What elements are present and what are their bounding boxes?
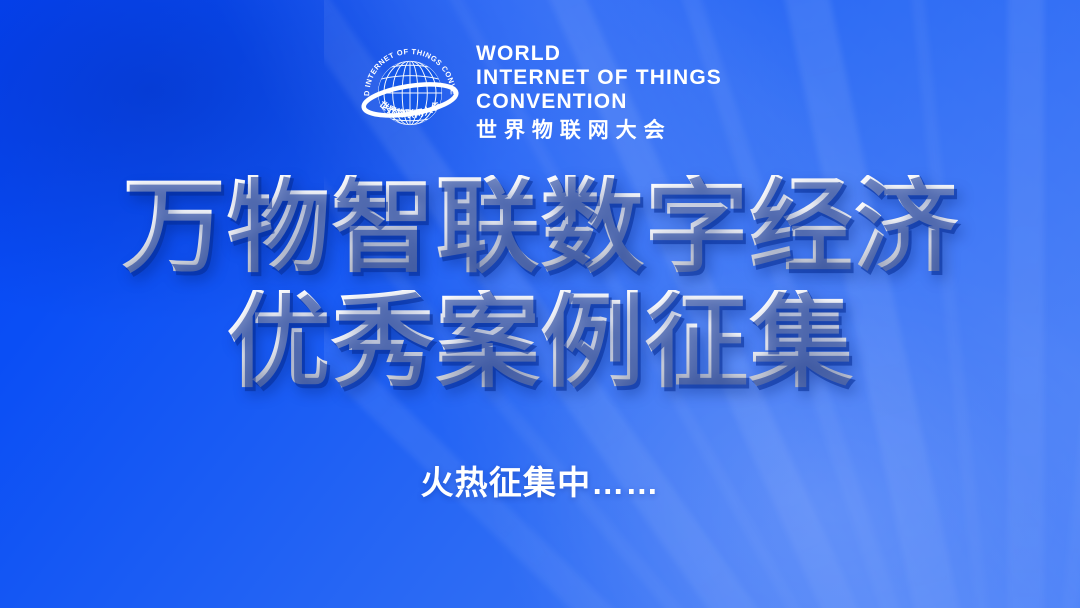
headline-line-2-text: 优秀案例征集 — [226, 290, 853, 394]
headline-line-2: 优秀案例征集 — [122, 290, 958, 394]
logo-wordmark: WORLD INTERNET OF THINGS CONVENTION 世界物联… — [476, 42, 722, 143]
poster-content: WORLD INTERNET OF THINGS CONVENTION 世界物联… — [0, 0, 1080, 608]
globe-emblem-icon: WORLD INTERNET OF THINGS CONVENTION 世界物联… — [358, 41, 462, 145]
logo-line-internet: INTERNET OF THINGS — [476, 66, 722, 90]
logo-lockup: WORLD INTERNET OF THINGS CONVENTION 世界物联… — [358, 41, 722, 145]
poster-canvas: WORLD INTERNET OF THINGS CONVENTION 世界物联… — [0, 0, 1080, 608]
logo-line-chinese: 世界物联网大会 — [476, 118, 722, 144]
subtitle-text: 火热征集中…… — [420, 456, 659, 504]
headline-block: 万物智联数字经济 优秀案例征集 — [122, 175, 958, 394]
headline-line-1: 万物智联数字经济 — [122, 175, 958, 279]
headline-line-1-text: 万物智联数字经济 — [122, 175, 958, 279]
logo-line-world: WORLD — [476, 42, 722, 66]
logo-line-convention: CONVENTION — [476, 90, 722, 114]
